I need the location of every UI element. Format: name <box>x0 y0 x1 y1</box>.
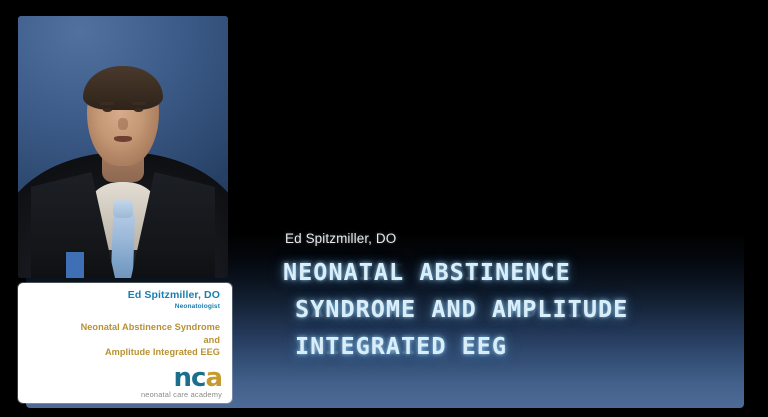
slide-speaker-role: Neonatologist <box>28 302 220 312</box>
speaker-eye-left <box>103 108 112 112</box>
main-speaker-label: Ed Spitzmiller, DO <box>285 231 396 246</box>
speaker-eye-right <box>134 108 143 112</box>
title-row: INTEGRATED EEG INTEGRATED EEG <box>283 332 753 369</box>
speaker-video[interactable] <box>18 16 228 278</box>
title-row: SYNDROME AND AMPLITUDE SYNDROME AND AMPL… <box>283 295 753 332</box>
title-line-2-reflection: SYNDROME AND AMPLITUDE <box>295 294 628 322</box>
title-row: NEONATAL ABSTINENCE NEONATAL ABSTINENCE <box>283 258 753 295</box>
video-player-stage: Ed Spitzmiller, DO NEONATAL ABSTINENCE N… <box>0 0 768 417</box>
speaker-eyebrow-left <box>100 102 114 105</box>
speaker-mouth <box>114 136 132 142</box>
logo-letter-a: a <box>205 363 222 393</box>
speaker-eyebrow-right <box>132 102 146 105</box>
nca-logo-tagline: neonatal care academy <box>141 390 222 399</box>
speaker-tie-knot <box>113 200 133 218</box>
speaker-necktie <box>111 208 136 278</box>
video-blue-strip <box>66 252 84 278</box>
slide-title-line-3: Amplitude Integrated EEG <box>28 346 220 359</box>
logo-letter-c: c <box>191 363 205 393</box>
slide-speaker-name: Ed Spitzmiller, DO <box>28 289 220 301</box>
title-line-3-reflection: INTEGRATED EEG <box>295 331 507 359</box>
main-title-block: NEONATAL ABSTINENCE NEONATAL ABSTINENCE … <box>283 258 753 369</box>
logo-letter-n: n <box>174 363 192 393</box>
slide-thumbnail[interactable]: Ed Spitzmiller, DO Neonatologist Neonata… <box>18 283 232 403</box>
slide-title-line-1: Neonatal Abstinence Syndrome <box>28 321 220 334</box>
speaker-nose <box>118 118 128 130</box>
nca-logo: nca neonatal care academy <box>141 366 222 399</box>
title-line-1-reflection: NEONATAL ABSTINENCE <box>283 257 571 285</box>
nca-logo-mark: nca <box>141 366 222 391</box>
slide-title-line-2: and <box>28 334 220 347</box>
slide-title-group: Neonatal Abstinence Syndrome and Amplitu… <box>28 321 220 359</box>
